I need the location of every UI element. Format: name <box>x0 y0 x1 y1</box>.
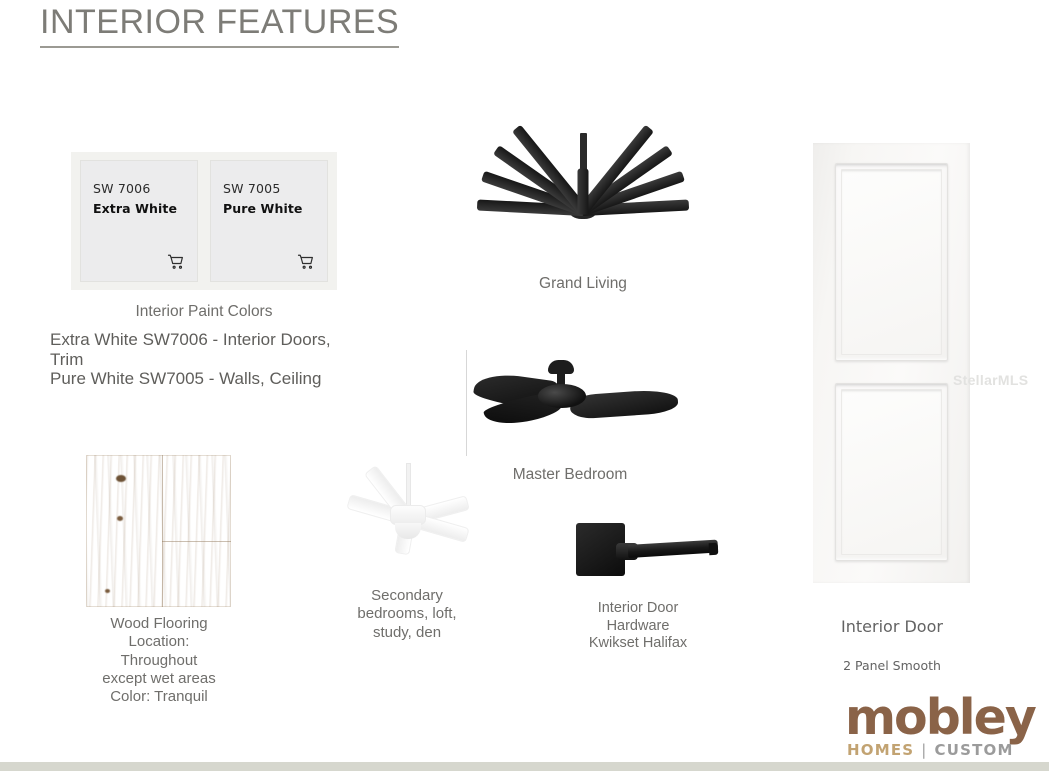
lever-handle-tip <box>709 543 719 556</box>
brand-wordmark: mobley <box>845 693 1035 743</box>
fan-blade <box>578 169 589 215</box>
door-hardware-caption: Interior Door Hardware Kwikset Halifax <box>557 600 719 653</box>
door-panel-top <box>835 163 948 361</box>
cart-icon[interactable] <box>297 253 315 271</box>
paint-code: SW 7006 <box>93 181 150 196</box>
paint-colors-caption: Interior Paint Colors <box>71 303 337 322</box>
paint-code: SW 7005 <box>223 181 280 196</box>
paint-name: Pure White <box>223 201 302 216</box>
door-lever-hardware-image <box>576 523 718 587</box>
brand-tagline-custom: CUSTOM <box>935 741 1014 759</box>
bottom-accent-bar <box>0 762 1049 771</box>
fan-secondary-caption: Secondary bedrooms, loft, study, den <box>337 587 477 642</box>
wood-knot <box>105 589 110 593</box>
paint-name: Extra White <box>93 201 177 216</box>
fan-downrod <box>406 463 411 507</box>
wood-flooring-swatch-image <box>86 455 231 607</box>
paint-swatch-group: SW 7006 Extra White SW 7005 Pure White <box>71 152 337 290</box>
paint-swatch-card-pure-white[interactable]: SW 7005 Pure White <box>210 160 328 282</box>
ceiling-fan-grand-living-image <box>463 133 703 263</box>
interior-door-title: Interior Door <box>808 617 976 637</box>
divider-line <box>466 350 467 456</box>
wood-flooring-caption: Wood Flooring Location: Throughout excep… <box>84 615 234 706</box>
lever-handle <box>628 540 719 558</box>
interior-door-subtitle: 2 Panel Smooth <box>808 658 976 673</box>
paint-colors-detail: Extra White SW7006 - Interior Doors, Tri… <box>50 330 350 389</box>
wood-knot <box>117 516 123 521</box>
ceiling-fan-master-bedroom-image <box>466 350 681 458</box>
brand-tagline: HOMES | CUSTOM <box>847 742 1035 758</box>
mobley-homes-logo: mobley HOMES | CUSTOM <box>845 693 1035 758</box>
wood-knot <box>116 475 126 482</box>
plank-seam-horizontal <box>162 541 231 542</box>
fan-blade <box>569 388 678 419</box>
interior-door-image <box>813 143 970 583</box>
fan-master-bedroom-caption: Master Bedroom <box>470 466 670 485</box>
interior-features-slide: INTERIOR FEATURES SW 7006 Extra White SW… <box>0 0 1049 771</box>
plank-seam-vertical <box>162 455 163 607</box>
brand-tagline-homes: HOMES <box>847 741 914 759</box>
wood-grain-texture <box>86 455 231 607</box>
paint-swatch-card-extra-white[interactable]: SW 7006 Extra White <box>80 160 198 282</box>
fan-light-kit <box>395 523 421 539</box>
brand-tagline-separator: | <box>920 741 928 759</box>
fan-motor-hub <box>390 505 426 525</box>
door-panel-bottom <box>835 383 948 561</box>
ceiling-fan-secondary-image <box>334 463 482 571</box>
page-title: INTERIOR FEATURES <box>40 2 399 48</box>
interior-door-caption: Interior Door 2 Panel Smooth <box>808 597 976 692</box>
fan-motor-hub <box>538 384 586 408</box>
cart-icon[interactable] <box>167 253 185 271</box>
fan-grand-living-caption: Grand Living <box>483 275 683 294</box>
